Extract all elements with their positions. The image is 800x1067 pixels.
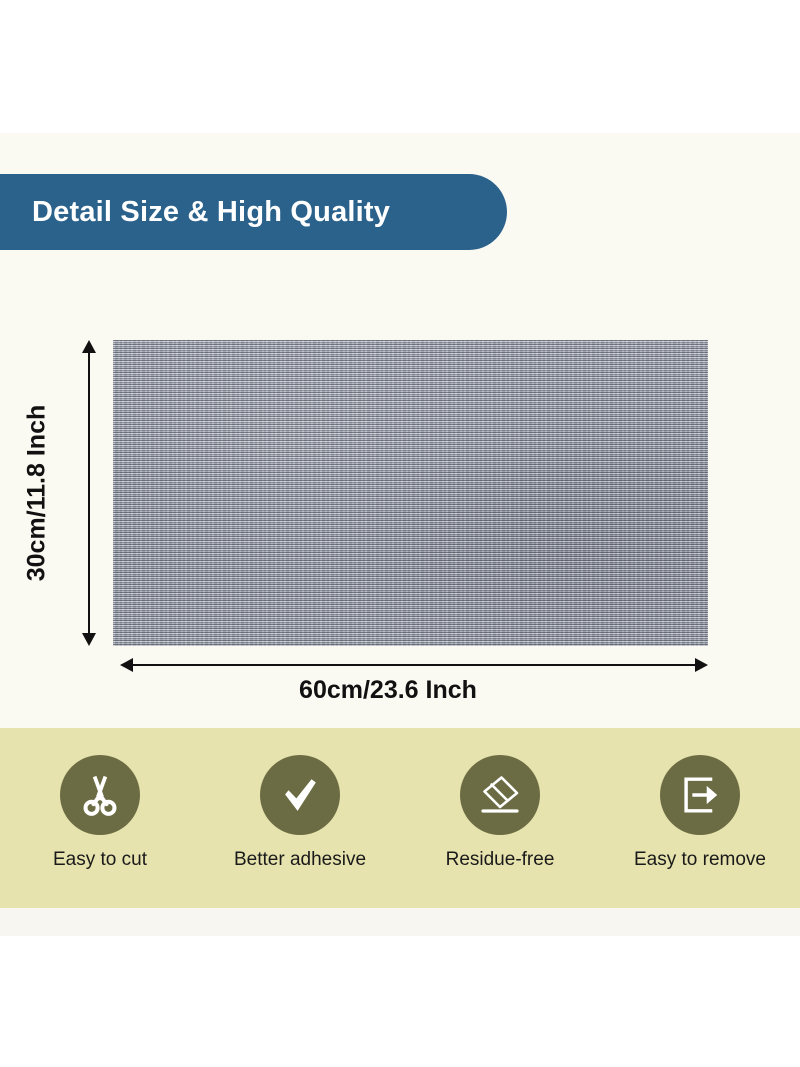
banner-title: Detail Size & High Quality bbox=[32, 198, 390, 227]
height-dimension-label: 30cm/11.8 Inch bbox=[23, 405, 52, 582]
width-dimension-arrow bbox=[120, 657, 708, 673]
product-detail-page: Detail Size & High Quality 30cm/11.8 Inc… bbox=[0, 0, 800, 1067]
feature-label: Easy to remove bbox=[634, 849, 766, 871]
feature-label: Easy to cut bbox=[53, 849, 147, 871]
feature-item-better-adhesive: Better adhesive bbox=[200, 728, 400, 908]
feature-icon-badge bbox=[660, 755, 740, 835]
arrow-head-right-icon bbox=[695, 658, 708, 672]
bottom-cream-strip bbox=[0, 908, 800, 936]
arrow-shaft bbox=[88, 347, 90, 639]
feature-label: Residue-free bbox=[446, 849, 555, 871]
width-dimension-label-wrap: 60cm/23.6 Inch bbox=[0, 676, 800, 705]
feature-icon-badge bbox=[260, 755, 340, 835]
feature-icon-badge bbox=[60, 755, 140, 835]
top-white-strip bbox=[0, 0, 800, 133]
width-dimension-label: 60cm/23.6 Inch bbox=[299, 676, 477, 704]
arrow-shaft bbox=[127, 664, 701, 666]
scissors-icon bbox=[77, 772, 123, 818]
feature-item-easy-to-cut: Easy to cut bbox=[0, 728, 200, 908]
bottom-white-strip bbox=[0, 936, 800, 1067]
section-banner: Detail Size & High Quality bbox=[0, 174, 507, 250]
height-dimension-arrow bbox=[81, 340, 97, 646]
features-band: Easy to cut Better adhesive Resi bbox=[0, 728, 800, 908]
checkmark-icon bbox=[277, 772, 323, 818]
arrow-head-down-icon bbox=[82, 633, 96, 646]
product-image bbox=[113, 340, 708, 646]
feature-item-easy-to-remove: Easy to remove bbox=[600, 728, 800, 908]
feature-icon-badge bbox=[460, 755, 540, 835]
exit-arrow-icon bbox=[677, 772, 723, 818]
feature-label: Better adhesive bbox=[234, 849, 366, 871]
feature-item-residue-free: Residue-free bbox=[400, 728, 600, 908]
carpet-texture bbox=[113, 340, 708, 646]
eraser-icon bbox=[476, 771, 524, 819]
